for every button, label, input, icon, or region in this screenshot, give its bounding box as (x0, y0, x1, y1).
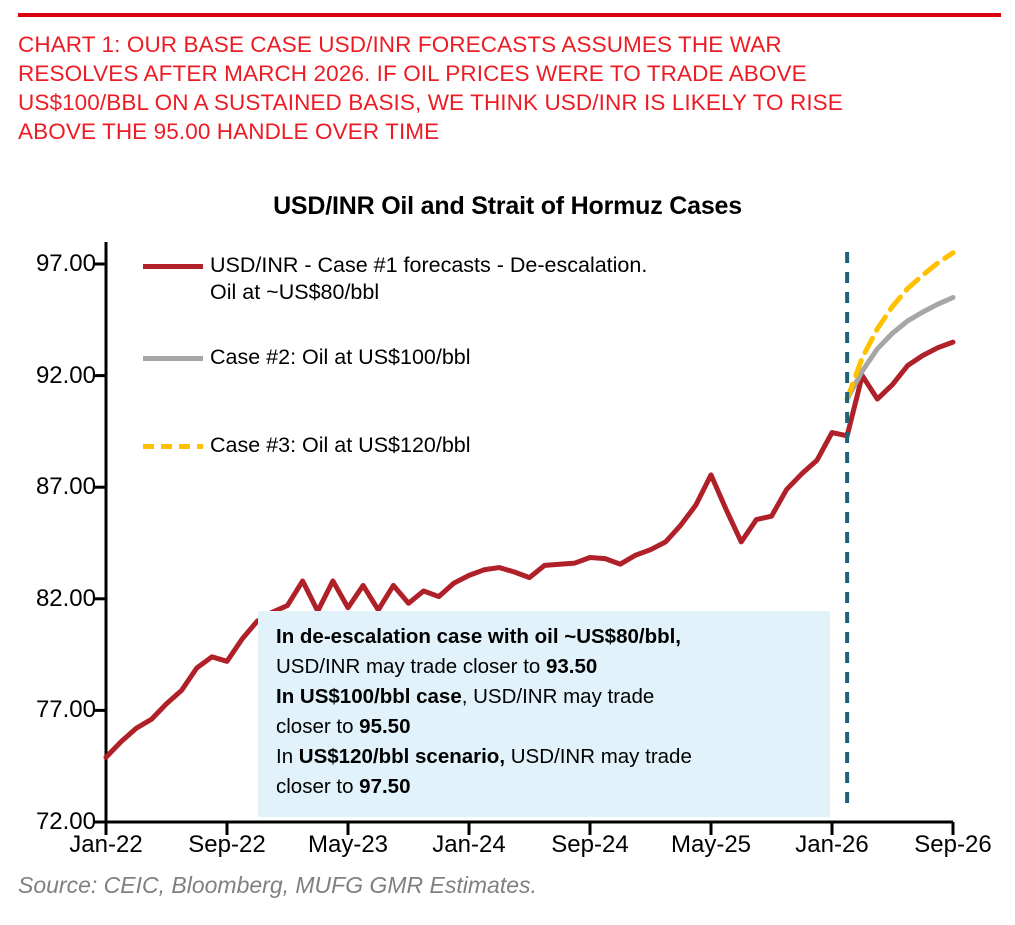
annotation-line: In US$120/bbl scenario, USD/INR may trad… (276, 742, 830, 772)
y-axis-tick-label: 77.00 (10, 696, 96, 724)
series-line-2 (847, 297, 953, 399)
chart-page: CHART 1: OUR BASE CASE USD/INR FORECASTS… (0, 0, 1015, 925)
legend-item-label: Case #3: Oil at US$120/bbl (210, 432, 471, 459)
legend-item-label: USD/INR - Case #1 forecasts - De-escalat… (210, 252, 647, 306)
chart-header-title: CHART 1: OUR BASE CASE USD/INR FORECASTS… (18, 30, 978, 146)
y-axis-tick-label: 97.00 (10, 250, 96, 278)
annotation-line: USD/INR may trade closer to 93.50 (276, 652, 830, 682)
legend-item-3[interactable]: Case #3: Oil at US$120/bbl (143, 432, 471, 459)
legend-swatch-icon (143, 356, 203, 361)
y-axis-tick-labels: 72.0077.0082.0087.0092.0097.00 (0, 0, 96, 925)
source-note: Source: CEIC, Bloomberg, MUFG GMR Estima… (18, 872, 537, 899)
y-axis-tick-label: 82.00 (10, 585, 96, 613)
x-axis-tick-labels: Jan-22Sep-22May-23Jan-24Sep-24May-25Jan-… (0, 831, 1015, 871)
y-axis-tick-label: 92.00 (10, 362, 96, 390)
annotation-callout-box: In de-escalation case with oil ~US$80/bb… (258, 611, 830, 817)
legend-swatch-icon (143, 264, 203, 269)
legend-item-label: Case #2: Oil at US$100/bbl (210, 344, 471, 371)
x-axis-tick-label: Jan-24 (399, 831, 539, 859)
x-axis-tick-label: Jan-22 (36, 831, 176, 859)
annotation-line: In de-escalation case with oil ~US$80/bb… (276, 622, 830, 652)
x-axis-tick-label: Sep-24 (520, 831, 660, 859)
y-axis-tick-label: 87.00 (10, 473, 96, 501)
x-axis-tick-label: Jan-26 (762, 831, 902, 859)
annotation-line: closer to 95.50 (276, 712, 830, 742)
legend-item-1[interactable]: USD/INR - Case #1 forecasts - De-escalat… (143, 252, 647, 306)
series-line-3 (847, 253, 953, 399)
annotation-line: In US$100/bbl case, USD/INR may trade (276, 682, 830, 712)
legend-swatch-icon (143, 444, 203, 449)
chart-title: USD/INR Oil and Strait of Hormuz Cases (0, 192, 1015, 221)
x-axis-tick-label: May-23 (278, 831, 418, 859)
header-rule (18, 13, 1001, 17)
x-axis-tick-label: May-25 (641, 831, 781, 859)
x-axis-tick-label: Sep-22 (157, 831, 297, 859)
legend-item-2[interactable]: Case #2: Oil at US$100/bbl (143, 344, 471, 371)
annotation-callout-text: In de-escalation case with oil ~US$80/bb… (276, 622, 830, 802)
x-axis-tick-label: Sep-26 (883, 831, 1015, 859)
annotation-line: closer to 97.50 (276, 772, 830, 802)
